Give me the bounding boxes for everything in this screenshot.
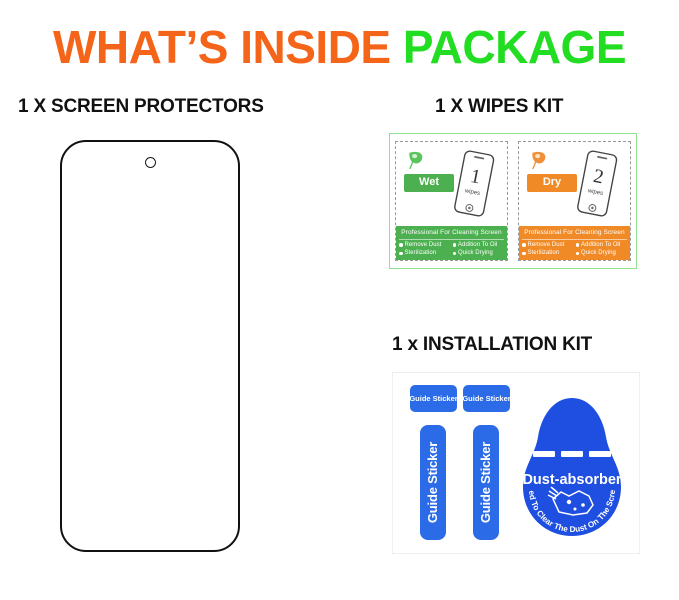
wipe-feature: Sterilization	[522, 250, 574, 257]
wipe-features-dry: Remove Dust Addition To Oil Sterilizatio…	[522, 240, 627, 257]
wipe-feature: Remove Dust	[399, 242, 451, 249]
wipe-packet-dry: Dry 2 wipes Professional For Cleaning Sc…	[518, 141, 631, 261]
wipe-footer-dry: Professional For Cleaning Screen Remove …	[519, 226, 630, 260]
guide-sticker-strip: Guide Sticker	[420, 425, 446, 540]
dust-absorber-dash	[589, 451, 611, 457]
screen-protector-illustration	[60, 140, 240, 552]
wipe-feature-label: Addition To Oil	[581, 242, 620, 249]
wipe-feature-label: Sterilization	[405, 250, 437, 257]
bullet-dot-icon	[522, 252, 526, 256]
page-title-primary: WHAT’S INSIDE	[53, 21, 403, 73]
section-heading-screen-protectors: 1 X SCREEN PROTECTORS	[18, 96, 264, 118]
dust-absorber-dash	[561, 451, 583, 457]
camera-hole-icon	[145, 157, 156, 168]
guide-sticker-tab: Guide Sticker	[463, 385, 510, 412]
wipe-feature-label: Sterilization	[528, 250, 560, 257]
screen-protector-outline	[60, 140, 240, 552]
wipe-feature-label: Remove Dust	[528, 242, 565, 249]
phone-illustration-dry: 2 wipes	[570, 148, 622, 222]
bullet-dot-icon	[576, 243, 580, 247]
wipe-footer-title-wet: Professional For Cleaning Screen	[399, 228, 504, 240]
wipe-packet-dry-artwork: Dry 2 wipes	[519, 142, 630, 226]
installation-kit-illustration: Guide Sticker Guide Sticker Guide Sticke…	[392, 372, 640, 554]
wipe-feature-label: Addition To Oil	[458, 242, 497, 249]
section-heading-installation-kit: 1 x INSTALLATION KIT	[392, 334, 592, 356]
page-title: WHAT’S INSIDE PACKAGE	[0, 24, 679, 70]
bullet-dot-icon	[399, 243, 403, 247]
section-heading-wipes-kit: 1 X WIPES KIT	[435, 96, 563, 118]
guide-sticker-strip: Guide Sticker	[473, 425, 499, 540]
wipe-feature-label: Remove Dust	[405, 242, 442, 249]
phone-illustration-wet: 1 wipes	[447, 148, 499, 222]
wipe-feature: Quick Drying	[453, 250, 505, 257]
guide-sticker-tab: Guide Sticker	[410, 385, 457, 412]
bullet-dot-icon	[453, 243, 457, 247]
wipe-feature-label: Quick Drying	[581, 250, 616, 257]
wipe-footer-wet: Professional For Cleaning Screen Remove …	[396, 226, 507, 260]
bullet-dot-icon	[399, 252, 403, 256]
wipe-features-wet: Remove Dust Addition To Oil Sterilizatio…	[399, 240, 504, 257]
wipes-kit-illustration: Wet 1 wipes Professional For Cleaning Sc…	[389, 133, 637, 269]
bullet-dot-icon	[522, 243, 526, 247]
wipe-feature: Addition To Oil	[453, 242, 505, 249]
guide-sticker-strip-label: Guide Sticker	[426, 442, 441, 523]
bullet-dot-icon	[453, 252, 457, 256]
wipe-feature: Addition To Oil	[576, 242, 628, 249]
wipe-feature: Quick Drying	[576, 250, 628, 257]
wipe-feature: Remove Dust	[522, 242, 574, 249]
dust-absorber-dash	[533, 451, 555, 457]
dust-absorber-label: Dust-absorber	[522, 472, 621, 488]
wipe-packet-wet-artwork: Wet 1 wipes	[396, 142, 507, 226]
leaf-icon	[530, 150, 547, 169]
wipe-packet-wet: Wet 1 wipes Professional For Cleaning Sc…	[395, 141, 508, 261]
page-title-accent: PACKAGE	[403, 21, 626, 73]
wipe-feature: Sterilization	[399, 250, 451, 257]
wipe-feature-label: Quick Drying	[458, 250, 493, 257]
leaf-icon	[407, 150, 424, 169]
bullet-dot-icon	[576, 252, 580, 256]
dust-absorber-sticker: Dust-absorber Used To Clear The Dust On …	[513, 395, 631, 539]
guide-sticker-strip-label: Guide Sticker	[479, 442, 494, 523]
wipe-footer-title-dry: Professional For Cleaning Screen	[522, 228, 627, 240]
